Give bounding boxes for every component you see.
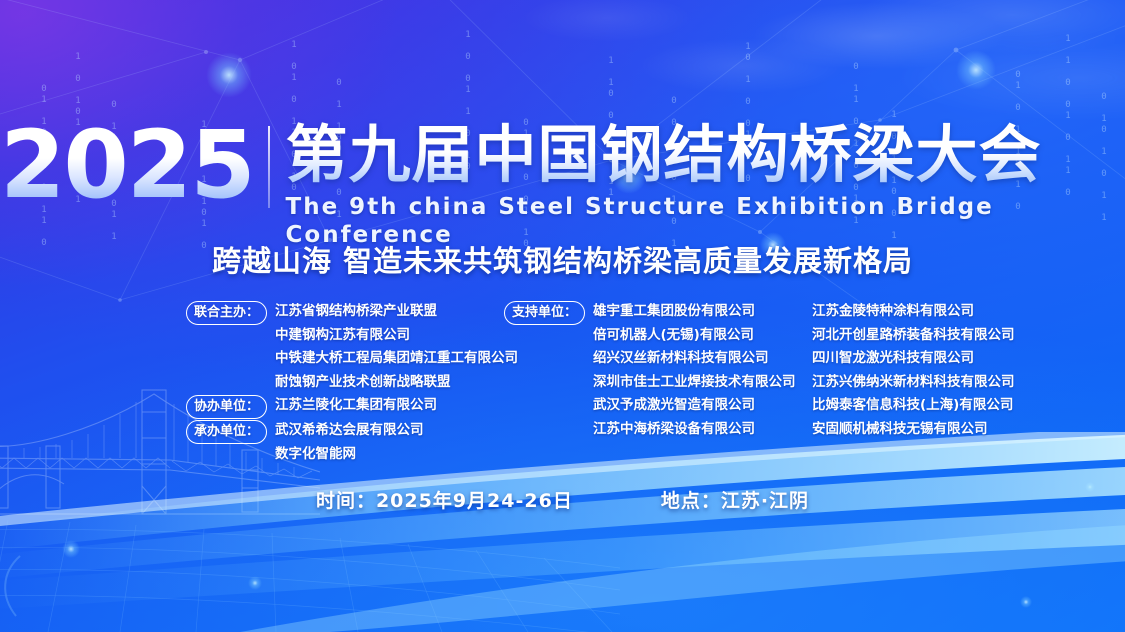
event-footer: 时间：2025年9月24-26日 地点：江苏·江阴 xyxy=(0,486,1125,513)
organizer-name-list: 雄宇重工集团股份有限公司倍可机器人(无锡)有限公司绍兴汉丝新材料科技有限公司深圳… xyxy=(593,300,804,441)
conference-title-cn: 第九届中国钢结构桥梁大会 xyxy=(286,118,1125,192)
organizer-group: 承办单位：武汉希希达会展有限公司数字化智能网 xyxy=(186,419,486,466)
organizers-column-left: 联合主办：江苏省钢结构桥梁产业联盟中建钢构江苏有限公司中铁建大桥工程局集团靖江重… xyxy=(186,300,486,466)
organizer-name-list: 江苏省钢结构桥梁产业联盟中建钢构江苏有限公司中铁建大桥工程局集团靖江重工有限公司… xyxy=(275,300,518,394)
organizer-name: 绍兴汉丝新材料科技有限公司 xyxy=(593,347,804,371)
perspective-grid-decoration xyxy=(0,512,620,632)
organizer-name: 耐蚀钢产业技术创新战略联盟 xyxy=(275,371,518,395)
event-date: 时间：2025年9月24-26日 xyxy=(316,486,573,513)
organizer-name: 中建钢构江苏有限公司 xyxy=(275,324,518,348)
organizer-name: 安固顺机械科技无锡有限公司 xyxy=(812,418,1056,442)
organizer-role-label: 联合主办： xyxy=(186,301,267,325)
organizer-name-list: 武汉希希达会展有限公司数字化智能网 xyxy=(275,419,486,466)
organizer-name-list: 江苏金陵特种涂料有限公司河北开创星路桥装备科技有限公司四川智龙激光科技有限公司江… xyxy=(812,300,1056,441)
organizer-name: 倍可机器人(无锡)有限公司 xyxy=(593,324,804,348)
organizer-name: 江苏兴佛纳米新材料科技有限公司 xyxy=(812,371,1056,395)
organizer-group: 支持单位：雄宇重工集团股份有限公司倍可机器人(无锡)有限公司绍兴汉丝新材料科技有… xyxy=(504,300,804,441)
organizer-role-label: 支持单位： xyxy=(504,301,585,325)
event-location: 地点：江苏·江阴 xyxy=(661,486,809,513)
organizer-name: 四川智龙激光科技有限公司 xyxy=(812,347,1056,371)
organizer-name: 武汉予成激光智造有限公司 xyxy=(593,394,804,418)
organizer-name: 江苏兰陵化工集团有限公司 xyxy=(275,394,486,418)
organizers-column-middle: 支持单位：雄宇重工集团股份有限公司倍可机器人(无锡)有限公司绍兴汉丝新材料科技有… xyxy=(504,300,804,441)
organizer-name: 中铁建大桥工程局集团靖江重工有限公司 xyxy=(275,347,518,371)
title-block: 2025 第九届中国钢结构桥梁大会 The 9th china Steel St… xyxy=(0,118,1125,249)
conference-slogan: 跨越山海 智造未来共筑钢结构桥梁高质量发展新格局 xyxy=(0,238,1125,280)
organizer-name: 深圳市佳士工业焊接技术有限公司 xyxy=(593,371,804,395)
organizer-role-label: 承办单位： xyxy=(186,420,267,444)
organizer-name: 雄宇重工集团股份有限公司 xyxy=(593,300,804,324)
organizer-group: 江苏金陵特种涂料有限公司河北开创星路桥装备科技有限公司四川智龙激光科技有限公司江… xyxy=(812,300,1056,441)
organizers-column-right: 江苏金陵特种涂料有限公司河北开创星路桥装备科技有限公司四川智龙激光科技有限公司江… xyxy=(812,300,1056,441)
organizer-group: 联合主办：江苏省钢结构桥梁产业联盟中建钢构江苏有限公司中铁建大桥工程局集团靖江重… xyxy=(186,300,486,394)
organizer-name: 河北开创星路桥装备科技有限公司 xyxy=(812,324,1056,348)
organizer-name: 比姆泰客信息科技(上海)有限公司 xyxy=(812,394,1056,418)
organizer-role-label: 协办单位： xyxy=(186,395,267,419)
organizer-name: 江苏省钢结构桥梁产业联盟 xyxy=(275,300,518,324)
organizer-name: 江苏中海桥梁设备有限公司 xyxy=(593,418,804,442)
organizer-name: 武汉希希达会展有限公司 xyxy=(275,419,486,443)
organizer-name: 数字化智能网 xyxy=(275,443,486,467)
organizer-group: 协办单位：江苏兰陵化工集团有限公司 xyxy=(186,394,486,419)
organizer-name-list: 江苏兰陵化工集团有限公司 xyxy=(275,394,486,418)
conference-banner: 01 10 01 0 11 01 0 101 10 0 10 11 0 1 01… xyxy=(0,0,1125,632)
organizer-name: 江苏金陵特种涂料有限公司 xyxy=(812,300,1056,324)
year-text: 2025 xyxy=(0,118,268,214)
